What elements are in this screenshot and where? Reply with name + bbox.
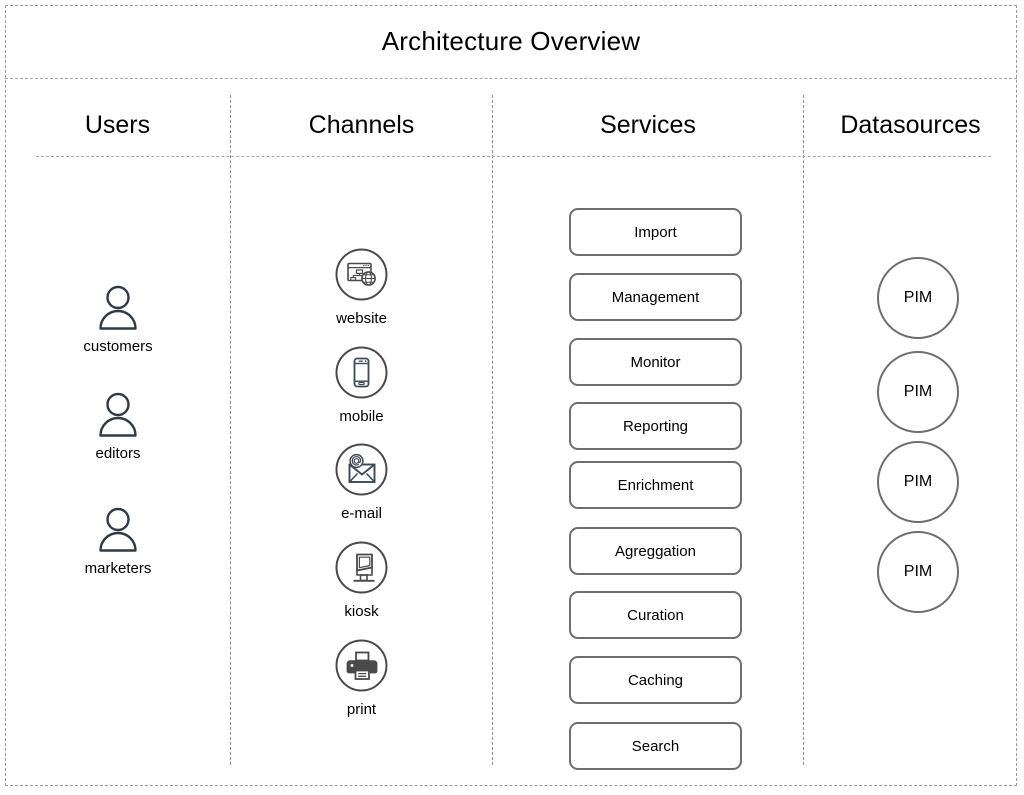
column-header-datasources: Datasources: [804, 104, 1017, 146]
column-header-divider: [36, 156, 991, 157]
service-box-curation[interactable]: Curation: [569, 591, 742, 639]
service-box-monitor[interactable]: Monitor: [569, 338, 742, 386]
architecture-diagram-canvas: Architecture Overview Users Channels Ser…: [0, 0, 1024, 795]
user-label: customers: [6, 338, 230, 356]
printer-icon: [231, 639, 492, 697]
user-label: marketers: [6, 560, 230, 578]
service-box-reporting[interactable]: Reporting: [569, 402, 742, 450]
column-separator-channels-services: [492, 95, 493, 765]
page-title: Architecture Overview: [382, 26, 641, 57]
channel-entry-kiosk: kiosk: [231, 541, 492, 621]
channel-entry-website: website: [231, 248, 492, 328]
diagram-title-band: Architecture Overview: [5, 5, 1017, 78]
service-box-search[interactable]: Search: [569, 722, 742, 770]
service-box-caching[interactable]: Caching: [569, 656, 742, 704]
envelope-at-icon: [231, 443, 492, 501]
datasource-circle-pim[interactable]: PIM: [877, 351, 959, 433]
person-icon: [6, 285, 230, 336]
user-entry-editors: editors: [6, 392, 230, 463]
channel-label: kiosk: [231, 603, 492, 621]
user-entry-marketers: marketers: [6, 507, 230, 578]
kiosk-terminal-icon: [231, 541, 492, 599]
service-box-management[interactable]: Management: [569, 273, 742, 321]
person-icon: [6, 507, 230, 558]
title-divider: [5, 78, 1017, 79]
service-box-enrichment[interactable]: Enrichment: [569, 461, 742, 509]
website-globe-icon: [231, 248, 492, 306]
channel-entry-print: print: [231, 639, 492, 719]
datasource-circle-pim[interactable]: PIM: [877, 531, 959, 613]
person-icon: [6, 392, 230, 443]
column-header-services: Services: [493, 104, 803, 146]
channel-label: mobile: [231, 408, 492, 426]
service-box-agreggation[interactable]: Agreggation: [569, 527, 742, 575]
datasource-circle-pim[interactable]: PIM: [877, 257, 959, 339]
column-header-channels: Channels: [231, 104, 492, 146]
channel-entry-mobile: mobile: [231, 346, 492, 426]
column-header-users: Users: [5, 104, 230, 146]
channel-label: website: [231, 310, 492, 328]
smartphone-icon: [231, 346, 492, 404]
user-label: editors: [6, 445, 230, 463]
user-entry-customers: customers: [6, 285, 230, 356]
column-separator-services-datasources: [803, 95, 804, 765]
channel-entry-email: e-mail: [231, 443, 492, 523]
service-box-import[interactable]: Import: [569, 208, 742, 256]
datasource-circle-pim[interactable]: PIM: [877, 441, 959, 523]
channel-label: e-mail: [231, 505, 492, 523]
channel-label: print: [231, 701, 492, 719]
